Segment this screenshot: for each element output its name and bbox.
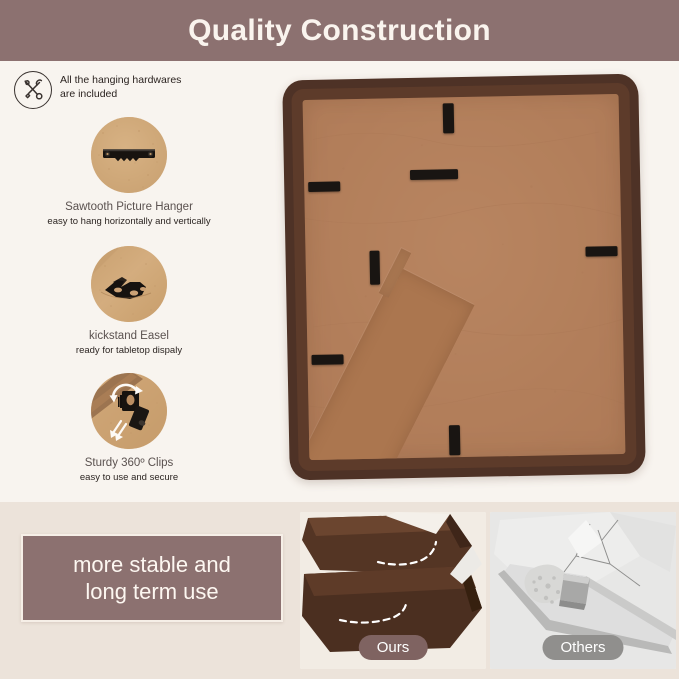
- header-banner: Quality Construction: [0, 0, 679, 61]
- feature-clips: Sturdy 360º Clips easy to use and secure: [0, 373, 258, 484]
- feature-title: Sturdy 360º Clips: [0, 456, 258, 470]
- feature-kickstand: kickstand Easel ready for tabletop dispa…: [0, 246, 258, 357]
- feature-title: kickstand Easel: [0, 329, 258, 343]
- feature-sawtooth: Sawtooth Picture Hanger easy to hang hor…: [0, 117, 258, 228]
- feature-subtitle: easy to use and secure: [0, 471, 258, 484]
- feature-title: Sawtooth Picture Hanger: [0, 200, 258, 214]
- label-ours: Ours: [359, 635, 428, 660]
- clip-right: [585, 246, 617, 257]
- slogan-line-1: more stable and: [73, 551, 231, 578]
- page-title: Quality Construction: [188, 14, 491, 48]
- infographic-page: Quality Construction: [0, 0, 679, 679]
- tools-icon: [14, 71, 52, 109]
- clip-upper-mid: [410, 169, 458, 180]
- badge-line-1: All the hanging hardwares: [60, 73, 181, 87]
- comparison-section: more stable and long term use: [0, 502, 679, 679]
- sawtooth-hanger-photo: [91, 117, 167, 193]
- hardware-included-badge: All the hanging hardwares are included: [14, 71, 250, 109]
- slogan-line-2: long term use: [73, 578, 231, 605]
- hardware-included-text: All the hanging hardwares are included: [60, 71, 181, 101]
- clip-center-vertical: [369, 251, 380, 285]
- mdf-backing-board: [303, 94, 626, 460]
- slogan-text: more stable and long term use: [73, 551, 231, 605]
- frame-back-hero-image: [272, 69, 668, 489]
- main-section: All the hanging hardwares are included: [0, 61, 679, 502]
- feature-column: All the hanging hardwares are included: [0, 61, 258, 502]
- feature-subtitle: easy to hang horizontally and vertically: [0, 215, 258, 228]
- frame-outer-moulding: [282, 74, 646, 481]
- badge-line-2: are included: [60, 87, 181, 101]
- slogan-box: more stable and long term use: [21, 534, 283, 622]
- clip-bottom: [449, 425, 461, 455]
- feature-subtitle: ready for tabletop dispaly: [0, 344, 258, 357]
- clip-top: [443, 103, 455, 133]
- comparison-card-others: Others: [490, 512, 676, 669]
- kickstand-easel-photo: [91, 246, 167, 322]
- label-others: Others: [542, 635, 623, 660]
- clip-left-lower: [311, 354, 343, 365]
- comparison-card-ours: Ours: [300, 512, 486, 669]
- clip-left-upper: [308, 181, 340, 192]
- rotating-clip-photo: [91, 373, 167, 449]
